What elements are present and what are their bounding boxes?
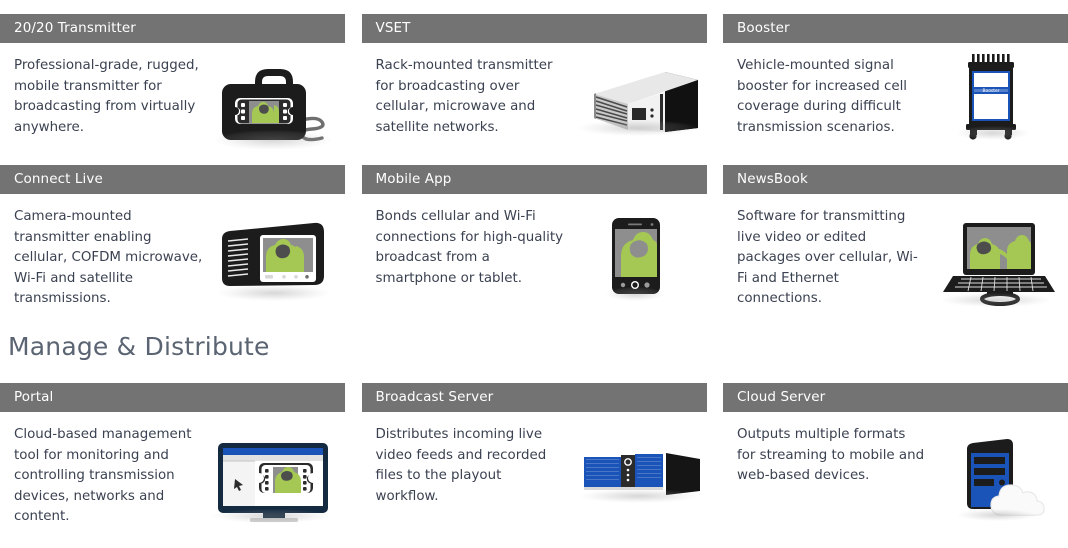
card-title: Portal	[14, 391, 53, 405]
art-shadow	[218, 285, 330, 301]
card-description: Outputs multiple formats for streaming t…	[737, 425, 927, 548]
card-header: Portal	[0, 383, 345, 412]
art-shadow	[957, 126, 1029, 140]
product-overview-page: 20/20 Transmitter Professional-grade, ru…	[0, 14, 1068, 510]
card-mobile-app[interactable]: Mobile App Bonds cellular and Wi-Fi conn…	[362, 165, 707, 311]
card-row-manage-distribute: Portal Cloud-based management tool for m…	[0, 383, 1068, 548]
card-description: Software for transmitting live video or …	[737, 207, 927, 311]
art-shadow	[214, 130, 332, 150]
card-header: VSET	[362, 14, 707, 43]
card-row-capture-1: 20/20 Transmitter Professional-grade, ru…	[0, 14, 1068, 154]
card-artwork	[204, 56, 345, 154]
card-title: Booster	[737, 22, 790, 36]
art-shadow	[578, 120, 698, 136]
card-cloud-server[interactable]: Cloud Server Outputs multiple formats fo…	[723, 383, 1068, 548]
card-title: Mobile App	[376, 173, 452, 187]
card-body: Vehicle-mounted signal booster for incre…	[723, 43, 1068, 154]
card-broadcast-server[interactable]: Broadcast Server Distributes incoming li…	[362, 383, 707, 548]
card-artwork	[927, 207, 1068, 311]
card-body: Professional-grade, rugged, mobile trans…	[0, 43, 345, 154]
card-title: Connect Live	[14, 173, 103, 187]
card-artwork	[566, 425, 707, 548]
card-artwork: Booster	[927, 56, 1068, 154]
booster-label: Booster	[983, 88, 1000, 94]
card-row-capture-2: Connect Live Camera-mounted transmitter …	[0, 165, 1068, 311]
card-artwork	[204, 207, 345, 311]
card-description: Distributes incoming live video feeds an…	[376, 425, 566, 548]
card-vset[interactable]: VSET Rack-mounted transmitter for broadc…	[362, 14, 707, 154]
card-header: Broadcast Server	[362, 383, 707, 412]
card-description: Vehicle-mounted signal booster for incre…	[737, 56, 927, 154]
card-header: Booster	[723, 14, 1068, 43]
card-description: Rack-mounted transmitter for broadcastin…	[376, 56, 566, 154]
card-body: Software for transmitting live video or …	[723, 194, 1068, 311]
art-shadow	[580, 489, 698, 503]
card-title: 20/20 Transmitter	[14, 22, 136, 36]
card-artwork	[566, 207, 707, 311]
card-portal[interactable]: Portal Cloud-based management tool for m…	[0, 383, 345, 548]
art-shadow	[212, 509, 330, 523]
card-body: Rack-mounted transmitter for broadcastin…	[362, 43, 707, 154]
card-description: Camera-mounted transmitter enabling cell…	[14, 207, 204, 311]
card-body: Cloud-based management tool for monitori…	[0, 412, 345, 548]
card-booster[interactable]: Booster Vehicle-mounted signal booster f…	[723, 14, 1068, 154]
card-title: NewsBook	[737, 173, 808, 187]
card-description: Bonds cellular and Wi-Fi connections for…	[376, 207, 566, 311]
card-body: Outputs multiple formats for streaming t…	[723, 412, 1068, 548]
art-shadow	[606, 287, 664, 301]
card-header: NewsBook	[723, 165, 1068, 194]
card-header: Cloud Server	[723, 383, 1068, 412]
card-description: Professional-grade, rugged, mobile trans…	[14, 56, 204, 154]
art-shadow	[941, 293, 1051, 307]
card-artwork	[566, 56, 707, 154]
card-20-20-transmitter[interactable]: 20/20 Transmitter Professional-grade, ru…	[0, 14, 345, 154]
card-header: 20/20 Transmitter	[0, 14, 345, 43]
card-connect-live[interactable]: Connect Live Camera-mounted transmitter …	[0, 165, 345, 311]
card-body: Bonds cellular and Wi-Fi connections for…	[362, 194, 707, 311]
card-body: Camera-mounted transmitter enabling cell…	[0, 194, 345, 311]
card-header: Connect Live	[0, 165, 345, 194]
card-title: Cloud Server	[737, 391, 825, 405]
card-title: Broadcast Server	[376, 391, 494, 405]
card-newsbook[interactable]: NewsBook Software for transmitting live …	[723, 165, 1068, 311]
section-heading-manage-distribute: Manage & Distribute	[8, 334, 1068, 359]
art-shadow	[957, 509, 1037, 521]
card-header: Mobile App	[362, 165, 707, 194]
card-artwork	[204, 425, 345, 548]
card-artwork	[927, 425, 1068, 548]
card-body: Distributes incoming live video feeds an…	[362, 412, 707, 548]
card-title: VSET	[376, 22, 411, 36]
card-description: Cloud-based management tool for monitori…	[14, 425, 204, 548]
